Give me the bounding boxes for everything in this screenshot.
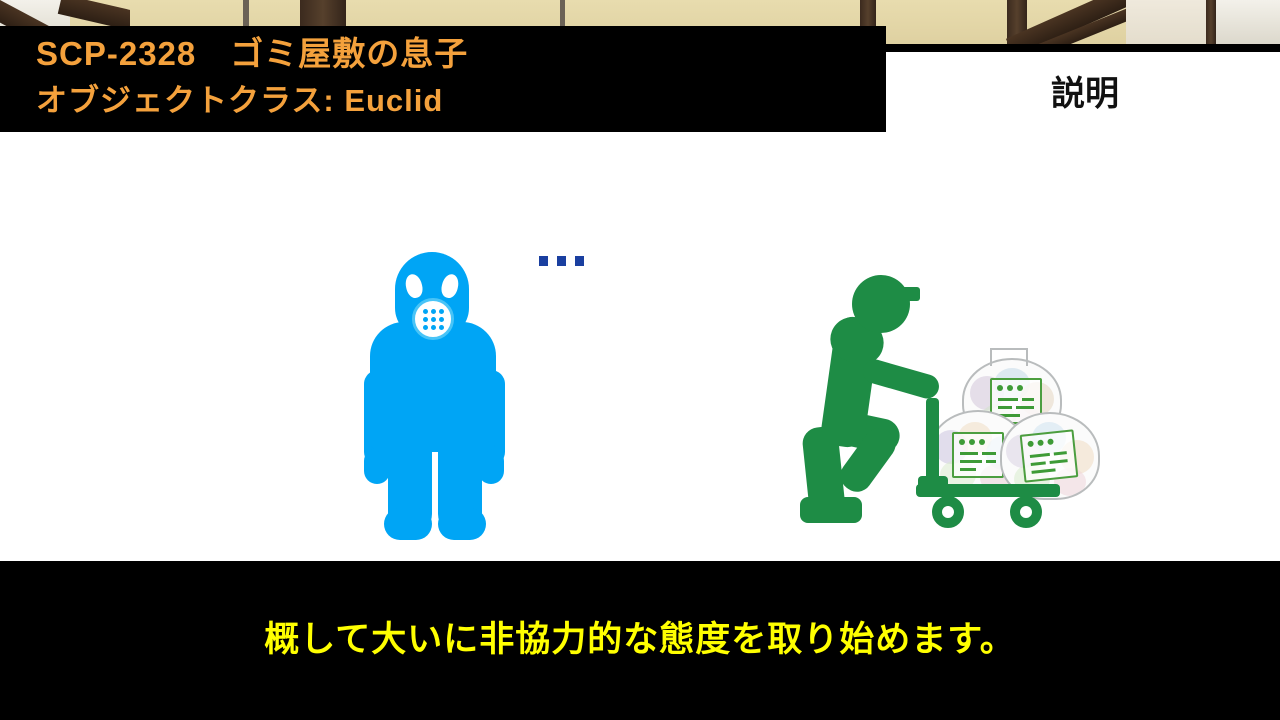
ellipsis-dot-1 (539, 256, 548, 266)
hazmat-foot-right (438, 508, 486, 540)
worker-cap-brim (900, 287, 920, 301)
photo-post-4 (1206, 0, 1216, 48)
hazmat-worker-figure (362, 252, 507, 542)
worker-foot (800, 497, 862, 523)
hazmat-torso (370, 322, 496, 452)
ellipsis-dots (539, 256, 585, 268)
hand-cart (910, 398, 1060, 528)
scp-title: SCP-2328 ゴミ屋敷の息子 (36, 30, 886, 77)
worker-head (852, 275, 910, 333)
cart-wheel-right (1010, 496, 1042, 528)
photo-wall-far-right (1126, 0, 1216, 48)
garbage-bag-tie-top (990, 348, 1028, 366)
section-heading: 説明 (890, 72, 1280, 116)
header-divider-rule (886, 44, 1280, 52)
object-class-line: オブジェクトクラス: Euclid (36, 77, 886, 124)
hazmat-foot-left (384, 508, 432, 540)
title-banner: SCP-2328 ゴミ屋敷の息子 オブジェクトクラス: Euclid (0, 26, 886, 132)
video-frame: SCP-2328 ゴミ屋敷の息子 オブジェクトクラス: Euclid 説明 (0, 0, 1280, 720)
ellipsis-dot-2 (557, 256, 566, 266)
bag-label-dots-top (997, 385, 1023, 391)
cart-wheel-left (932, 496, 964, 528)
ellipsis-dot-3 (575, 256, 584, 266)
subtitle-text: 概して大いに非協力的な態度を取り始めます。 (0, 618, 1280, 662)
hazmat-hand-left (364, 448, 390, 484)
gas-mask-filter-icon (412, 298, 454, 340)
photo-window-right (1216, 0, 1280, 48)
cart-deck (916, 484, 1060, 497)
garbage-collector-figure (800, 275, 920, 525)
gas-mask-filter-holes (415, 301, 451, 337)
